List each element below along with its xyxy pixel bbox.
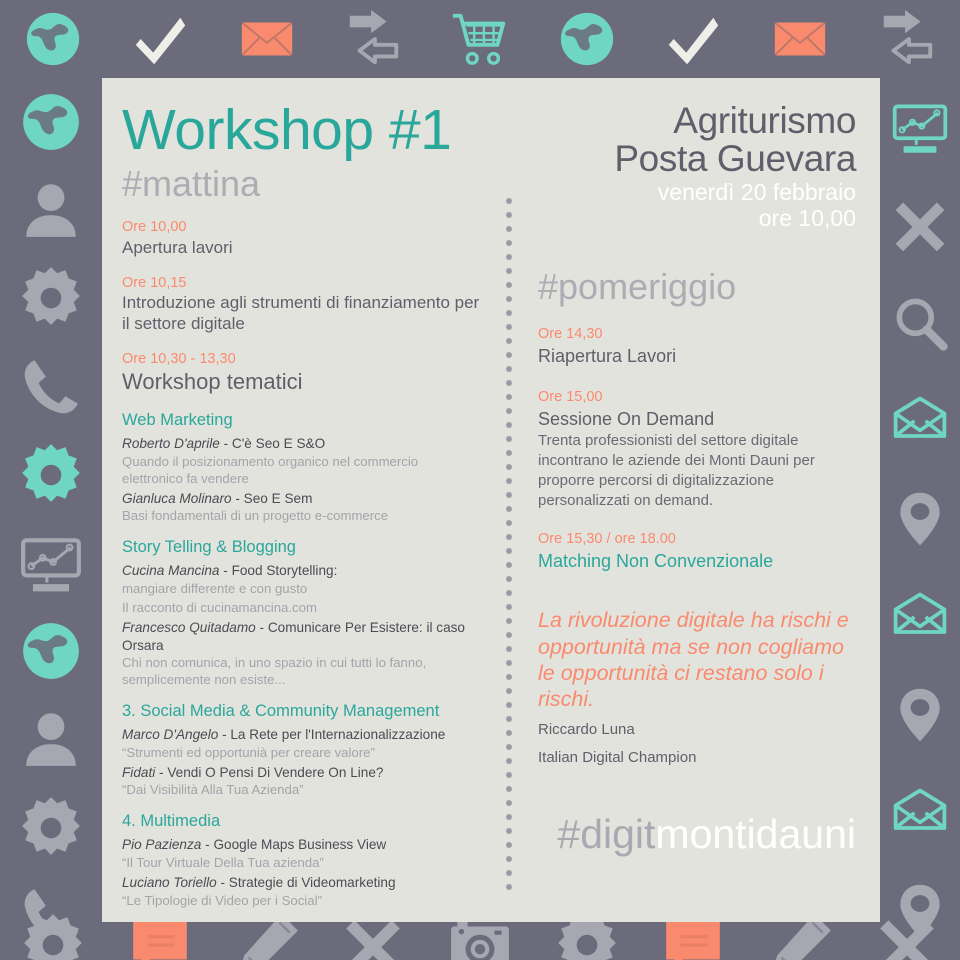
phone-icon	[18, 354, 84, 420]
entry-time: Ore 10,30 - 13,30	[122, 350, 480, 370]
talk-line: Pio Pazienza - Google Maps Business View	[122, 836, 480, 854]
talk-subtitle: “Dai Visibilità Alla Tua Azienda”	[122, 782, 480, 799]
talk-subtitle: Chi non comunica, in uno spazio in cui t…	[122, 655, 480, 689]
entry-time: Ore 15,30 / ore 18.00	[538, 530, 856, 550]
check-icon	[662, 8, 724, 70]
exchange-arrows-icon	[876, 8, 938, 70]
envelope-open-icon	[890, 587, 950, 647]
talk-title: - C'è Seo E S&O	[220, 436, 325, 451]
location-pin-icon	[890, 685, 950, 745]
background-icon-band-top	[0, 0, 960, 78]
afternoon-column: Agriturismo Posta Guevara venerdì 20 feb…	[516, 78, 880, 922]
shopping-cart-icon	[449, 8, 511, 70]
column-divider	[502, 195, 516, 892]
entry-title: Apertura lavori	[122, 238, 480, 259]
schedule-entry: Ore 10,00Apertura lavori	[122, 218, 480, 258]
entry-time: Ore 10,15	[122, 274, 480, 294]
morning-session-tag: #mattina	[122, 163, 480, 204]
schedule-entry: Ore 14,30Riapertura Lavori	[538, 325, 856, 368]
talk-line: Fidati - Vendi O Pensi Di Vendere On Lin…	[122, 764, 480, 782]
talk-speaker: Cucina Mancina	[122, 563, 219, 578]
entry-title: Riapertura Lavori	[538, 345, 856, 368]
afternoon-entry-list: Ore 14,30Riapertura LavoriOre 15,00Sessi…	[538, 325, 856, 573]
background-icon-band-right	[880, 78, 960, 960]
schedule-entry: Ore 15,00Sessione On DemandTrenta profes…	[538, 388, 856, 510]
globe-icon	[556, 8, 618, 70]
talk-subtitle: “Il Tour Virtuale Della Tua azienda”	[122, 855, 480, 872]
entry-title: Workshop tematici	[122, 369, 480, 396]
entry-title: Introduzione agli strumenti di finanziam…	[122, 293, 480, 334]
talk-title: - Food Storytelling:	[219, 563, 337, 578]
talk-speaker: Francesco Quitadamo	[122, 620, 256, 635]
talk-speaker: Fidati	[122, 765, 155, 780]
talk-subtitle: “Strumenti ed opportunià per creare valo…	[122, 745, 480, 762]
background-icon-band-left	[0, 78, 102, 960]
talk-title: - Vendi O Pensi Di Vendere On Line?	[155, 765, 383, 780]
close-x-icon	[874, 912, 940, 960]
event-date: venerdì 20 febbraio	[538, 180, 856, 206]
talk-speaker: Gianluca Molinaro	[122, 491, 232, 506]
talk-line: Roberto D'aprile - C'è Seo E S&O	[122, 435, 480, 453]
event-hour: ore 10,00	[538, 206, 856, 232]
envelope-open-icon	[890, 783, 950, 843]
venue-line-1: Agriturismo	[538, 102, 856, 140]
poster-canvas: Workshop #1 #mattina Ore 10,00Apertura l…	[0, 0, 960, 960]
category-group: Web MarketingRoberto D'aprile - C'è Seo …	[122, 411, 480, 525]
monitor-chart-icon	[18, 530, 84, 596]
person-icon	[18, 177, 84, 243]
venue-line-2: Posta Guevara	[538, 140, 856, 178]
entry-time: Ore 14,30	[538, 325, 856, 345]
gear-icon	[18, 795, 84, 861]
category-title: Story Telling & Blogging	[122, 538, 480, 557]
quote-author: Riccardo Luna	[538, 720, 856, 740]
category-title: 4. Multimedia	[122, 812, 480, 831]
check-icon	[129, 8, 191, 70]
globe-icon	[18, 89, 84, 155]
talk-title: - Strategie di Videomarketing	[217, 875, 396, 890]
globe-icon	[18, 618, 84, 684]
talk-subtitle: “Le Tipologie di Video per i Social”	[122, 893, 480, 910]
category-group: Story Telling & BloggingCucina Mancina -…	[122, 538, 480, 689]
program-card: Workshop #1 #mattina Ore 10,00Apertura l…	[102, 78, 880, 922]
talk-speaker: Roberto D'aprile	[122, 436, 220, 451]
talk-line: Cucina Mancina - Food Storytelling:	[122, 562, 480, 580]
exchange-arrows-icon	[342, 8, 404, 70]
talk-title: - Seo E Sem	[232, 491, 313, 506]
category-group: 3. Social Media & Community ManagementMa…	[122, 702, 480, 799]
schedule-entry: Ore 10,30 - 13,30Workshop tematici	[122, 350, 480, 396]
envelope-icon	[769, 8, 831, 70]
talk-title: - La Rete per l'Internazionalizzazione	[218, 727, 445, 742]
talk-line: Francesco Quitadamo - Comunicare Per Esi…	[122, 619, 480, 654]
gear-icon	[20, 912, 86, 960]
entry-time: Ore 15,00	[538, 388, 856, 408]
envelope-open-icon	[890, 391, 950, 451]
talk-speaker: Luciano Toriello	[122, 875, 217, 890]
quote-text: La rivoluzione digitale ha rischi e oppo…	[538, 607, 856, 712]
search-icon	[890, 293, 950, 353]
entry-body: Trenta professionisti del settore digita…	[538, 431, 856, 510]
morning-category-list: Web MarketingRoberto D'aprile - C'è Seo …	[122, 411, 480, 909]
location-pin-icon	[890, 489, 950, 549]
category-group: 4. MultimediaPio Pazienza - Google Maps …	[122, 812, 480, 909]
talk-line: Gianluca Molinaro - Seo E Sem	[122, 490, 480, 508]
gear-icon	[18, 265, 84, 331]
event-hashtag: #digitmontidauni	[538, 814, 856, 855]
gear-icon	[18, 442, 84, 508]
person-icon	[18, 706, 84, 772]
hashtag-prefix: #digit	[557, 811, 655, 857]
schedule-entry: Ore 15,30 / ore 18.00Matching Non Conven…	[538, 530, 856, 573]
envelope-icon	[236, 8, 298, 70]
morning-entry-list: Ore 10,00Apertura lavoriOre 10,15Introdu…	[122, 218, 480, 396]
hashtag-suffix: montidauni	[655, 811, 856, 857]
talk-speaker: Pio Pazienza	[122, 837, 201, 852]
talk-subtitle: mangiare differente e con gusto	[122, 581, 480, 598]
page-title: Workshop #1	[122, 102, 480, 159]
globe-icon	[22, 8, 84, 70]
talk-title: - Google Maps Business View	[201, 837, 386, 852]
talk-subtitle: Basi fondamentali di un progetto e-comme…	[122, 508, 480, 525]
talk-subtitle: Il racconto di cucinamancina.com	[122, 600, 480, 617]
background-icon-band-bottom	[0, 922, 960, 960]
entry-title: Matching Non Convenzionale	[538, 550, 856, 573]
entry-title: Sessione On Demand	[538, 408, 856, 431]
morning-column: Workshop #1 #mattina Ore 10,00Apertura l…	[102, 78, 502, 922]
talk-speaker: Marco D'Angelo	[122, 727, 218, 742]
schedule-entry: Ore 10,15Introduzione agli strumenti di …	[122, 274, 480, 335]
afternoon-session-tag: #pomeriggio	[538, 266, 856, 307]
monitor-chart-icon	[890, 97, 950, 157]
category-title: 3. Social Media & Community Management	[122, 702, 480, 721]
talk-subtitle: Quando il posizionamento organico nel co…	[122, 454, 480, 488]
close-x-icon	[890, 195, 950, 255]
category-title: Web Marketing	[122, 411, 480, 430]
entry-time: Ore 10,00	[122, 218, 480, 238]
talk-line: Marco D'Angelo - La Rete per l'Internazi…	[122, 726, 480, 744]
quote-role: Italian Digital Champion	[538, 748, 856, 768]
talk-line: Luciano Toriello - Strategie di Videomar…	[122, 874, 480, 892]
